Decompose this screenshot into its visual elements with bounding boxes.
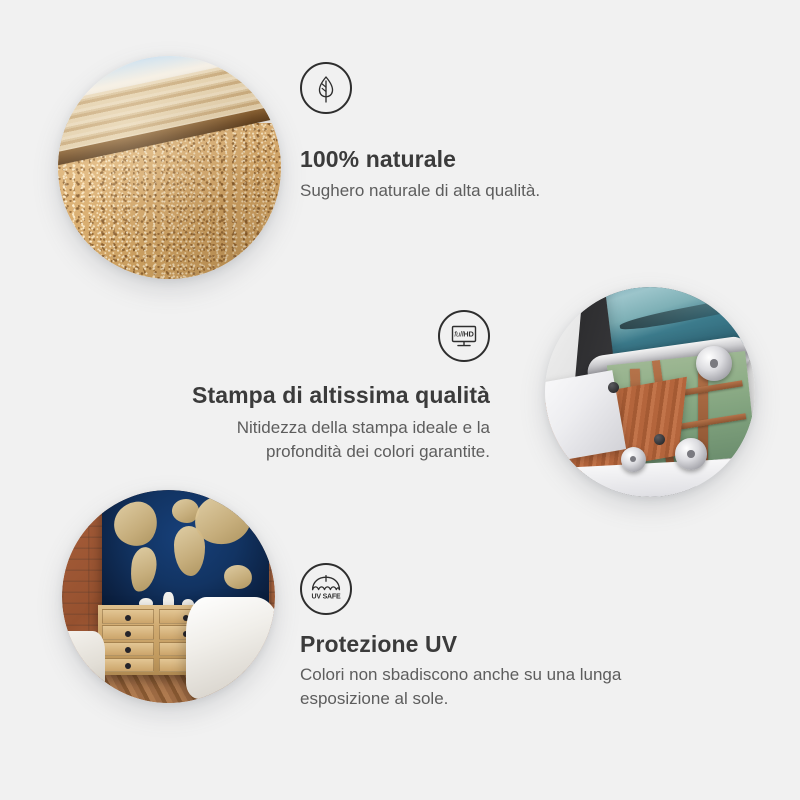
- printer-wheel-top-right: [696, 346, 732, 382]
- leaf-icon: [300, 62, 352, 114]
- fullhd-monitor-icon: fullHD: [438, 310, 490, 362]
- svg-text:fullHD: fullHD: [454, 330, 474, 339]
- map-continent-south-america: [128, 545, 159, 593]
- map-continent-australia: [223, 564, 254, 591]
- interior-secondary-armchair: [62, 631, 105, 695]
- printer-knob-left: [608, 382, 619, 393]
- interior-white-armchair: [186, 597, 275, 699]
- cork-board-photo: [58, 56, 281, 279]
- printer-wheel-bottom-right: [675, 438, 707, 470]
- feature-description-print-quality: Nitidezza della stampa ideale e laprofon…: [128, 416, 490, 464]
- svg-text:UV SAFE: UV SAFE: [312, 594, 341, 601]
- dresser-handle-1: [125, 615, 131, 621]
- printer-photo-inner: [545, 287, 755, 497]
- feature-description-natural: Sughero naturale di alta qualità.: [300, 179, 540, 203]
- feature-description-line-1: Colori non sbadiscono anche su una lunga: [300, 665, 621, 684]
- feature-title-uv-protection: Protezione UV: [300, 631, 457, 658]
- feature-description-uv-protection: Colori non sbadiscono anche su una lunga…: [300, 663, 670, 711]
- cork-photo-shading: [58, 56, 281, 279]
- uv-umbrella-icon: UV SAFE: [300, 563, 352, 615]
- printer-wheel-bottom-left: [621, 447, 646, 472]
- cork-photo-inner: [58, 56, 281, 279]
- interior-world-map-photo: [62, 490, 275, 703]
- feature-title-natural: 100% naturale: [300, 146, 456, 173]
- feature-description-line-1: Nitidezza della stampa ideale e la: [237, 418, 490, 437]
- map-continent-asia: [194, 494, 254, 545]
- feature-description-line-2: esposizione al sole.: [300, 689, 448, 708]
- feature-description-line-2: profondità dei colori garantite.: [266, 442, 490, 461]
- feature-title-print-quality: Stampa di altissima qualità: [192, 382, 490, 409]
- printing-machine-photo: [545, 287, 755, 497]
- feature-showcase-stage: 100% naturale Sughero naturale di alta q…: [0, 0, 800, 800]
- map-continent-north-america: [111, 499, 160, 548]
- interior-photo-inner: [62, 490, 275, 703]
